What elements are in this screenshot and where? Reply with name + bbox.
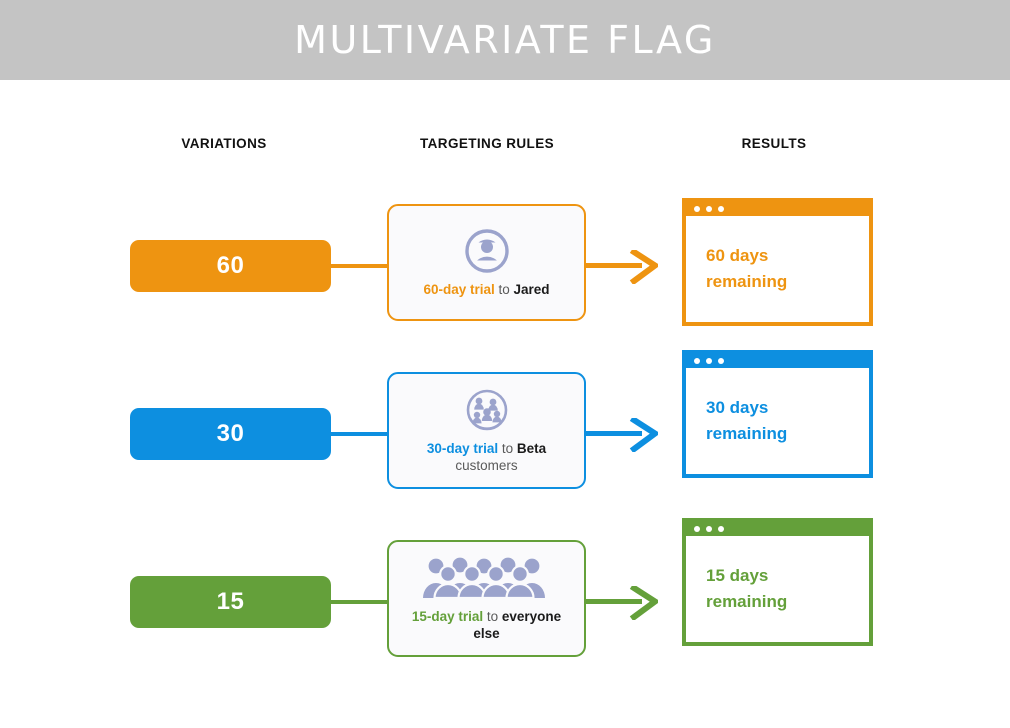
targeting-rule-card[interactable]: 30-day trial to Beta customers [387,372,586,489]
window-dot-icon [706,526,712,532]
result-window-body: 60 daysremaining [686,216,869,322]
crowd-icon [422,557,552,599]
result-line-2: remaining [706,269,787,295]
rule-connector-text: to [495,282,514,297]
window-dot-icon [706,358,712,364]
window-dot-icon [718,206,724,212]
variation-pill-label: 15 [217,588,245,616]
group-circle-icon [465,388,509,432]
pill-card-connector [331,432,387,436]
column-heading-targeting-rules: TARGETING RULES [420,136,554,151]
targeting-rule-card[interactable]: 60-day trial to Jared [387,204,586,321]
window-dot-icon [718,526,724,532]
result-text: 30 daysremaining [706,395,787,447]
flow-arrow-icon [586,586,658,620]
result-window-body: 15 daysremaining [686,536,869,642]
flag-row: 6060-day trial to Jared60 daysremaining [0,182,1010,350]
result-line-1: 60 days [706,243,787,269]
single-person-icon [464,228,510,274]
rule-icon-wrap [422,553,552,603]
window-dot-icon [694,358,700,364]
rule-connector-text: to [498,441,517,456]
window-dot-icon [694,206,700,212]
flow-arrow-icon [586,418,658,452]
page-header: MULTIVARIATE FLAG [0,0,1010,80]
rule-subject-text: Beta [517,441,546,456]
result-text: 15 daysremaining [706,563,787,615]
rule-text: 60-day trial to Jared [419,281,553,298]
variation-pill[interactable]: 60 [130,240,331,292]
result-line-2: remaining [706,589,787,615]
column-heading-results: RESULTS [742,136,807,151]
flag-row: 3030-day trial to Beta customers30 daysr… [0,350,1010,518]
rule-accent-text: 60-day trial [423,282,494,297]
variation-pill-label: 30 [217,420,245,448]
result-window-titlebar [686,522,869,536]
result-window-body: 30 daysremaining [686,368,869,474]
rule-accent-text: 30-day trial [427,441,498,456]
result-window[interactable]: 15 daysremaining [682,518,873,646]
variation-pill[interactable]: 30 [130,408,331,460]
column-headings: VARIATIONS TARGETING RULES RESULTS [0,136,1010,182]
flag-rows: 6060-day trial to Jared60 daysremaining3… [0,182,1010,686]
result-text: 60 daysremaining [706,243,787,295]
variation-pill-label: 60 [217,252,245,280]
rule-text: 15-day trial to everyone else [397,608,576,642]
rule-connector-text: to [483,609,502,624]
flow-arrow-icon [586,250,658,284]
flag-row: 1515-day trial to everyone else15 daysre… [0,518,1010,686]
result-line-2: remaining [706,421,787,447]
rule-icon-wrap [464,226,510,276]
page-title: MULTIVARIATE FLAG [294,18,716,62]
rule-subject-text: Jared [514,282,550,297]
rule-accent-text: 15-day trial [412,609,483,624]
result-window[interactable]: 30 daysremaining [682,350,873,478]
result-window-titlebar [686,354,869,368]
flow-arrow [586,250,658,284]
rule-text: 30-day trial to Beta customers [397,440,576,474]
window-dot-icon [718,358,724,364]
pill-card-connector [331,264,387,268]
result-line-1: 30 days [706,395,787,421]
rule-subject-suffix-text: customers [455,458,517,473]
flow-arrow [586,586,658,620]
window-dot-icon [694,526,700,532]
result-line-1: 15 days [706,563,787,589]
rule-icon-wrap [465,385,509,435]
flow-arrow [586,418,658,452]
result-window[interactable]: 60 daysremaining [682,198,873,326]
window-dot-icon [706,206,712,212]
pill-card-connector [331,600,387,604]
variation-pill[interactable]: 15 [130,576,331,628]
result-window-titlebar [686,202,869,216]
targeting-rule-card[interactable]: 15-day trial to everyone else [387,540,586,657]
column-heading-variations: VARIATIONS [181,136,266,151]
